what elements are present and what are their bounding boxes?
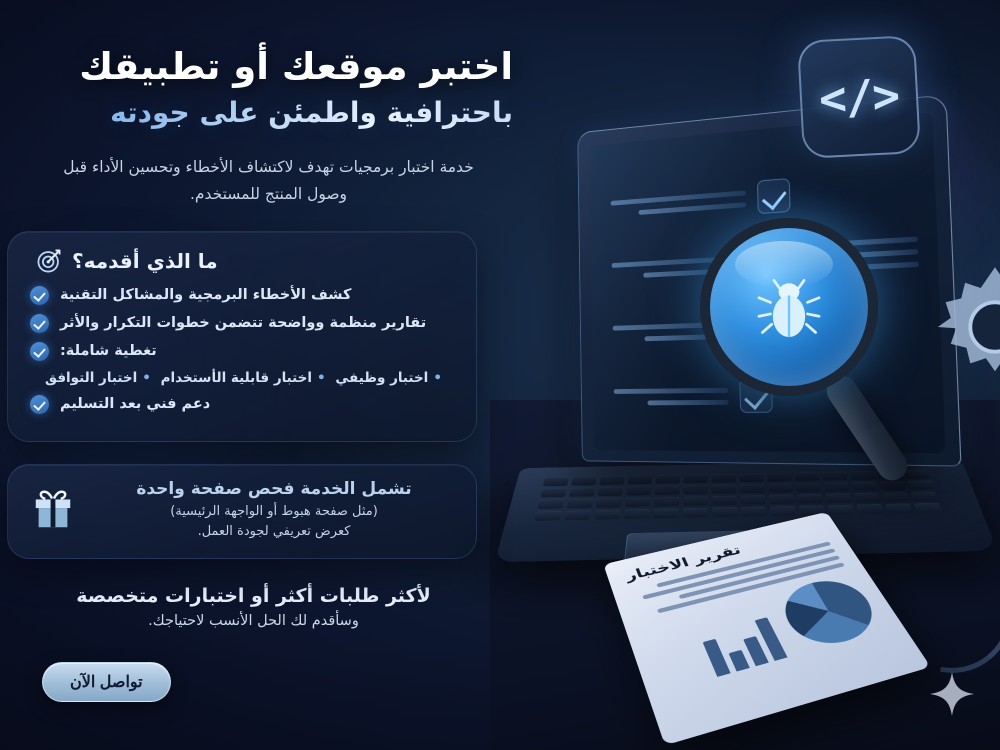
intro-paragraph: خدمة اختبار برمجيات تهدف لاكتشاف الأخطاء…	[59, 154, 479, 209]
laptop-keyboard	[533, 470, 945, 529]
coverage-item: اختبار التوافق	[45, 370, 137, 386]
bug-icon	[752, 270, 826, 344]
feature-item: تغطية شاملة:	[30, 342, 454, 361]
offer-card: ما الذي أقدمه؟ كشف الأخطاء البرمجية والم…	[7, 231, 477, 442]
feature-item: تقارير منظمة وواضحة تتضمن خطوات التكرار …	[30, 314, 454, 333]
bonus-line-1: تشمل الخدمة فحص صفحة واحدة	[94, 479, 454, 499]
report-bar-chart	[698, 613, 788, 677]
offer-card-title: ما الذي أقدمه؟	[72, 249, 218, 273]
bonus-card: تشمل الخدمة فحص صفحة واحدة (مثل صفحة هبو…	[7, 464, 477, 559]
feature-item: كشف الأخطاء البرمجية والمشاكل التقنية	[30, 286, 454, 305]
feature-label: تغطية شاملة:	[60, 343, 157, 359]
gift-icon	[30, 487, 76, 533]
coverage-list: •اختبار وظيفي •اختبار قابلية الأستخدام •…	[30, 370, 454, 386]
screen-text-lines	[614, 387, 729, 405]
screen-checklist-row	[610, 178, 790, 224]
bonus-card-body: تشمل الخدمة فحص صفحة واحدة (مثل صفحة هبو…	[94, 479, 454, 542]
check-circle-icon	[30, 342, 49, 361]
sparkle-icon	[930, 672, 974, 716]
footer-line-1: لأكثر طلبات أكثر أو اختبارات متخصصة	[24, 585, 483, 607]
page-title: اختبر موقعك أو تطبيقك	[24, 44, 513, 89]
bullet-icon: •	[317, 370, 326, 386]
cta-container: تواصل الآن	[42, 662, 171, 702]
feature-label: دعم فني بعد التسليم	[60, 396, 210, 412]
hero-illustration: </> تقرير الاختبار	[500, 0, 1000, 750]
footer-line-2: وسأقدم لك الحل الأنسب لاحتياجك.	[24, 613, 483, 629]
feature-label: كشف الأخطاء البرمجية والمشاكل التقنية	[60, 287, 351, 303]
coverage-item: اختبار وظيفي	[335, 370, 428, 386]
code-badge-icon: </>	[797, 35, 921, 159]
bonus-line-3: كعرض تعريفي لجودة العمل.	[94, 522, 454, 542]
magnifier-lens	[700, 218, 878, 396]
footer-text: لأكثر طلبات أكثر أو اختبارات متخصصة وسأق…	[24, 585, 513, 629]
content-column: اختبر موقعك أو تطبيقك باحترافية واطمئن ع…	[0, 0, 545, 750]
check-circle-icon	[30, 286, 49, 305]
gear-icon	[930, 262, 1000, 392]
feature-item: دعم فني بعد التسليم	[30, 395, 454, 414]
check-circle-icon	[30, 314, 49, 333]
coverage-item: اختبار قابلية الأستخدام	[161, 370, 312, 386]
bullet-icon: •	[142, 370, 151, 386]
report-pie-chart	[773, 573, 886, 652]
check-circle-icon	[30, 395, 49, 414]
target-icon	[36, 248, 62, 274]
screen-text-lines	[611, 190, 747, 217]
offer-card-header: ما الذي أقدمه؟	[30, 248, 454, 274]
check-icon	[757, 178, 791, 214]
feature-label: تقارير منظمة وواضحة تتضمن خطوات التكرار …	[60, 315, 426, 331]
bonus-line-2: (مثل صفحة هبوط أو الواجهة الرئيسية)	[94, 502, 454, 522]
contact-now-button[interactable]: تواصل الآن	[42, 662, 171, 702]
page-subtitle: باحترافية واطمئن على جودته	[24, 95, 513, 131]
bullet-icon: •	[433, 370, 442, 386]
